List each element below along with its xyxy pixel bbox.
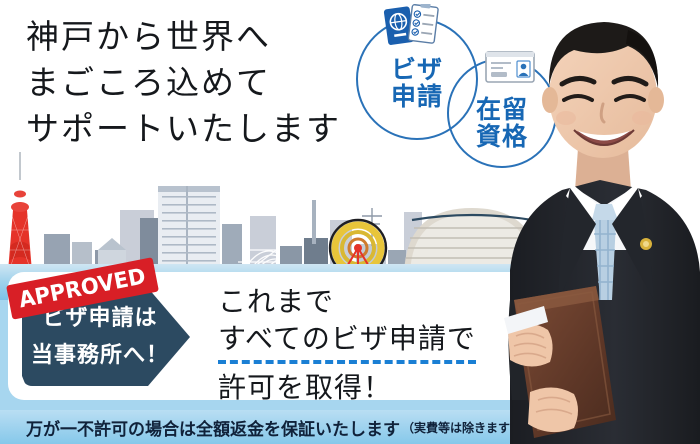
port-tower-icon (4, 152, 36, 278)
claim-line-1: これまで (218, 284, 518, 320)
circle-visa-label-line2: 申請 (366, 83, 468, 110)
guarantee-main-text: 万が一不許可の場合は全額返金を保証いたします (0, 415, 400, 440)
passport-icon (382, 4, 442, 50)
staff-photo (500, 0, 700, 444)
navy-box-line-2: 当事務所へ！ (30, 337, 170, 374)
circle-visa-label-line1: ビザ (366, 56, 468, 83)
claim-block: これまで すべてのビザ申請で 許可を取得！ (218, 284, 518, 408)
guarantee-bar: 万が一不許可の場合は全額返金を保証いたします （実費等は除きます） (0, 410, 512, 444)
circle-visa-label: ビザ 申請 (366, 56, 468, 110)
claim-line-3: 許可を取得！ (218, 368, 518, 408)
clipboard-icon (408, 4, 439, 43)
claim-line-2: すべてのビザ申請で (218, 320, 476, 364)
kobe-skyline-illustration (0, 150, 560, 278)
visa-service-banner: 神戸から世界へ まごころ込めて サポートいたします ビザ 申請 在留 資格 (0, 0, 700, 444)
